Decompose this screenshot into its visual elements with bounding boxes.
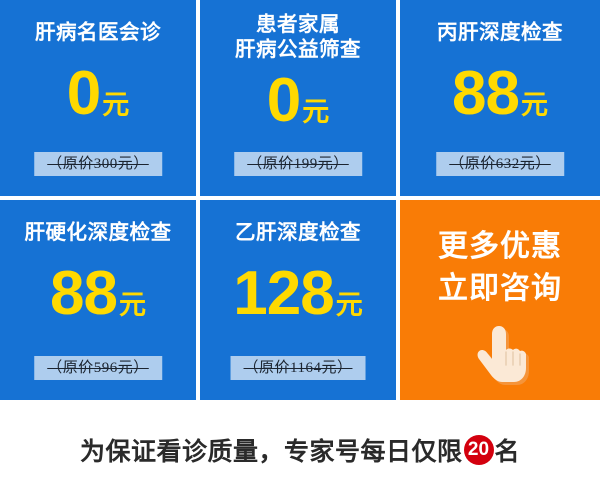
consult-cta-card[interactable]: 更多优惠 立即咨询 [400, 200, 600, 400]
offer-price-amount: 88 [50, 259, 117, 328]
offer-original-price: （原价596元） [34, 356, 162, 380]
footer-note-text-before: 为保证看诊质量，专家号每日仅限 [80, 432, 463, 468]
quota-count-badge: 20 [464, 435, 494, 465]
offer-price-unit: 元 [336, 290, 363, 320]
offer-price-unit: 元 [119, 290, 146, 320]
offer-title: 患者家属 肝病公益筛查 [200, 12, 396, 62]
offer-title: 乙肝深度检查 [200, 220, 396, 245]
offer-title-line: 肝病公益筛查 [200, 37, 396, 62]
offer-original-price: （原价632元） [436, 152, 564, 176]
offer-price-amount: 128 [233, 259, 333, 328]
offer-original-price: （原价199元） [234, 152, 362, 176]
offer-card-4[interactable]: 肝硬化深度检查 88元 （原价596元） [0, 200, 196, 400]
offer-title: 肝病名医会诊 [0, 20, 196, 45]
hand-cursor-icon [469, 320, 531, 386]
offer-price: 0元 [200, 70, 396, 132]
offer-title: 肝硬化深度检查 [0, 220, 196, 245]
footer-note-inner: 为保证看诊质量，专家号每日仅限 20 名 [80, 432, 520, 468]
offer-price-unit: 元 [102, 90, 129, 120]
offer-original-price: （原价300元） [34, 152, 162, 176]
consult-cta-text: 更多优惠 立即咨询 [400, 226, 600, 310]
promo-page: 肝病名医会诊 0元 （原价300元） 患者家属 肝病公益筛查 0元 （原价199… [0, 0, 600, 500]
offer-price-amount: 0 [67, 59, 100, 128]
offer-price: 0元 [0, 63, 196, 125]
offer-grid: 肝病名医会诊 0元 （原价300元） 患者家属 肝病公益筛查 0元 （原价199… [0, 0, 600, 400]
offer-price-unit: 元 [302, 97, 329, 127]
offer-title-line: 肝病名医会诊 [0, 20, 196, 45]
offer-price: 88元 [400, 63, 600, 125]
offer-price: 128元 [200, 263, 396, 325]
offer-title-line: 丙肝深度检查 [400, 20, 600, 45]
consult-cta-line: 更多优惠 [400, 226, 600, 268]
consult-cta-line: 立即咨询 [400, 268, 600, 310]
footer-note: 为保证看诊质量，专家号每日仅限 20 名 [0, 400, 600, 500]
offer-card-1[interactable]: 肝病名医会诊 0元 （原价300元） [0, 0, 196, 196]
offer-price-amount: 88 [452, 59, 519, 128]
offer-price-unit: 元 [521, 90, 548, 120]
offer-title: 丙肝深度检查 [400, 20, 600, 45]
offer-title-line: 肝硬化深度检查 [0, 220, 196, 245]
offer-card-3[interactable]: 丙肝深度检查 88元 （原价632元） [400, 0, 600, 196]
offer-card-2[interactable]: 患者家属 肝病公益筛查 0元 （原价199元） [200, 0, 396, 196]
offer-title-line: 乙肝深度检查 [200, 220, 396, 245]
offer-original-price: （原价1164元） [231, 356, 366, 380]
offer-title-line: 患者家属 [200, 12, 396, 37]
offer-price: 88元 [0, 263, 196, 325]
offer-price-amount: 0 [267, 66, 300, 135]
footer-note-text-after: 名 [495, 432, 521, 468]
offer-card-5[interactable]: 乙肝深度检查 128元 （原价1164元） [200, 200, 396, 400]
